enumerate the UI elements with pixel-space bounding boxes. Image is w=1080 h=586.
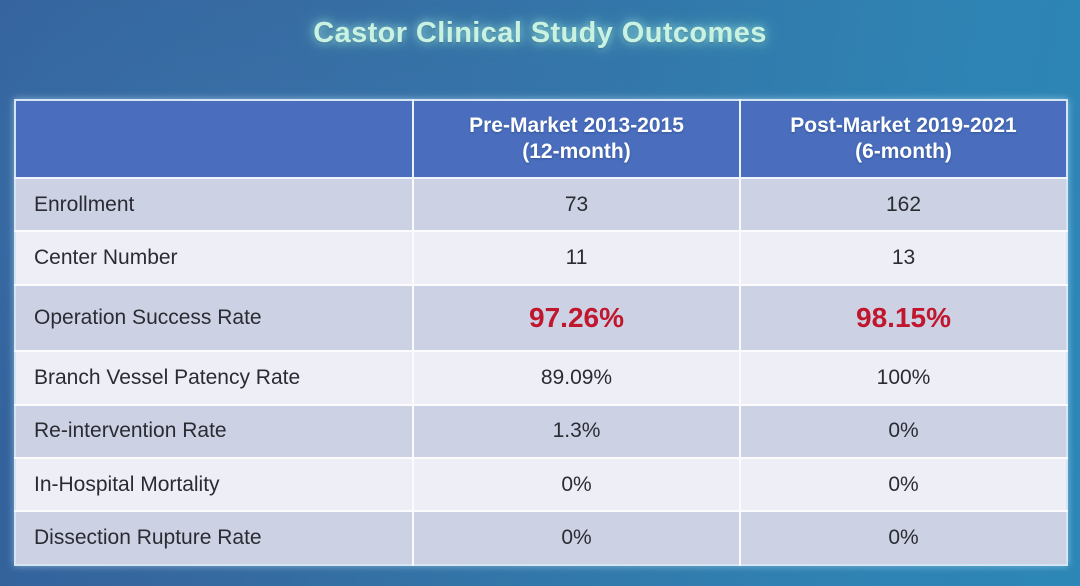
- cell-post-market: 100%: [740, 351, 1067, 404]
- row-label: Dissection Rupture Rate: [15, 511, 413, 565]
- table-row: Dissection Rupture Rate0%0%: [15, 511, 1067, 565]
- column-header-post-market-title: Post-Market 2019-2021: [747, 113, 1060, 139]
- cell-pre-market: 1.3%: [413, 405, 740, 458]
- column-header-post-market: Post-Market 2019-2021 (6-month): [740, 100, 1067, 178]
- table-row: In-Hospital Mortality0%0%: [15, 458, 1067, 511]
- cell-pre-market: 0%: [413, 458, 740, 511]
- row-label: In-Hospital Mortality: [15, 458, 413, 511]
- cell-post-market: 13: [740, 231, 1067, 284]
- cell-pre-market: 73: [413, 178, 740, 231]
- cell-pre-market: 11: [413, 231, 740, 284]
- table-row: Operation Success Rate97.26%98.15%: [15, 285, 1067, 351]
- table-row: Re-intervention Rate1.3%0%: [15, 405, 1067, 458]
- table-row: Enrollment73162: [15, 178, 1067, 231]
- table-header: Pre-Market 2013-2015 (12-month) Post-Mar…: [15, 100, 1067, 178]
- clinical-outcomes-table: Pre-Market 2013-2015 (12-month) Post-Mar…: [14, 99, 1068, 566]
- row-label: Center Number: [15, 231, 413, 284]
- column-header-metric: [15, 100, 413, 178]
- cell-post-market: 162: [740, 178, 1067, 231]
- cell-pre-market: 0%: [413, 511, 740, 565]
- row-label: Enrollment: [15, 178, 413, 231]
- row-label: Operation Success Rate: [15, 285, 413, 351]
- table-row: Branch Vessel Patency Rate89.09%100%: [15, 351, 1067, 404]
- cell-pre-market: 89.09%: [413, 351, 740, 404]
- cell-post-market: 0%: [740, 405, 1067, 458]
- column-header-post-market-subtitle: (6-month): [747, 139, 1060, 165]
- cell-pre-market: 97.26%: [413, 285, 740, 351]
- table-row: Center Number1113: [15, 231, 1067, 284]
- table-body: Enrollment73162Center Number1113Operatio…: [15, 178, 1067, 565]
- cell-post-market: 0%: [740, 511, 1067, 565]
- cell-post-market: 98.15%: [740, 285, 1067, 351]
- cell-post-market: 0%: [740, 458, 1067, 511]
- slide-canvas: Castor Clinical Study Outcomes Pre-Marke…: [0, 0, 1080, 586]
- column-header-pre-market: Pre-Market 2013-2015 (12-month): [413, 100, 740, 178]
- column-header-pre-market-title: Pre-Market 2013-2015: [420, 113, 733, 139]
- row-label: Re-intervention Rate: [15, 405, 413, 458]
- page-title: Castor Clinical Study Outcomes: [0, 17, 1080, 50]
- row-label: Branch Vessel Patency Rate: [15, 351, 413, 404]
- table-header-row: Pre-Market 2013-2015 (12-month) Post-Mar…: [15, 100, 1067, 178]
- column-header-pre-market-subtitle: (12-month): [420, 139, 733, 165]
